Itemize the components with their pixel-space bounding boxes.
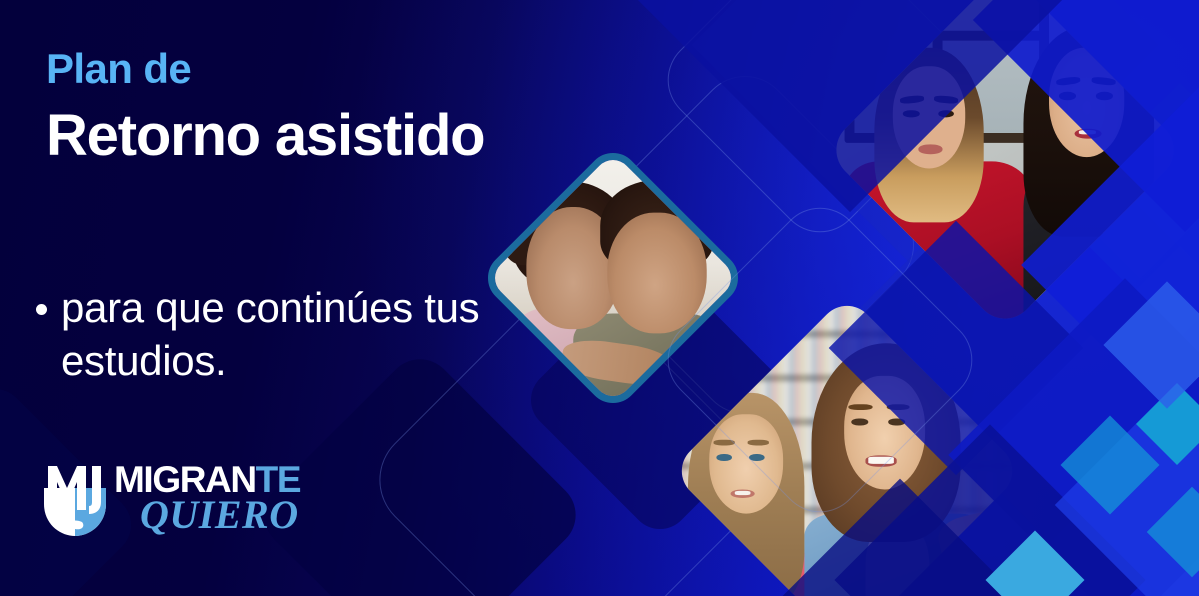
library-girl-teeth	[735, 490, 750, 494]
woman-one-lips	[918, 145, 943, 154]
bullet-dot-icon	[36, 304, 47, 315]
library-girl-eye-left	[716, 453, 732, 461]
logo-text-quiero: QUIERO	[140, 496, 300, 534]
headline-block: Plan de Retorno asistido	[46, 48, 606, 166]
page-title: Retorno asistido	[46, 105, 606, 166]
woman-two-eye-left	[1060, 92, 1077, 100]
eyebrow-text: Plan de	[46, 48, 606, 91]
beach-boy-face	[608, 212, 707, 333]
woman-two-eye-right	[1096, 92, 1113, 100]
logo-wordmark: MIGRANTE QUIERO	[114, 458, 300, 534]
handshake-mi-icon	[38, 458, 112, 540]
brand-logo: MIGRANTE QUIERO	[38, 458, 300, 540]
bullet-item: para que continúes tus estudios.	[36, 282, 556, 388]
woman-two-teeth	[1080, 130, 1097, 134]
bullet-text: para que continúes tus estudios.	[61, 282, 556, 388]
promo-banner: Plan de Retorno asistido para que contin…	[0, 0, 1199, 596]
